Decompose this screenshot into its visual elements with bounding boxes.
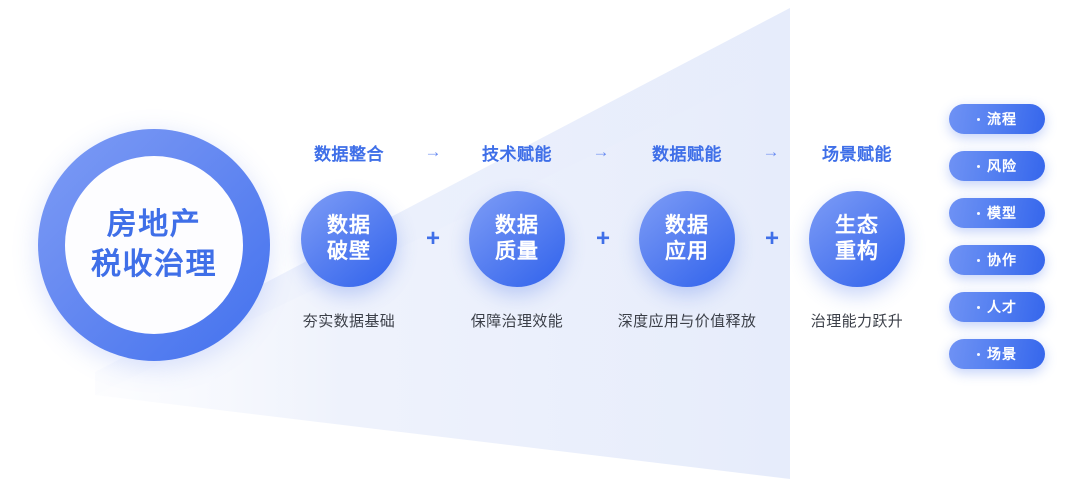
stage-arrow-2: → (581, 141, 621, 163)
stage-arrow-3: → (751, 141, 791, 163)
process-node-2-line1: 数据 (495, 213, 539, 239)
tag-pill-6-label: 场景 (987, 344, 1017, 364)
hub-circle: 房地产 税收治理 (38, 129, 270, 361)
diagram-canvas: 房地产 税收治理 数据整合 → 技术赋能 → 数据赋能 → 场景赋能 数据 破壁… (0, 0, 1080, 487)
process-node-1-line1: 数据 (327, 213, 371, 239)
process-node-4[interactable]: 生态 重构 (809, 191, 905, 287)
bullet-dot-icon (977, 165, 980, 168)
process-node-3[interactable]: 数据 应用 (639, 191, 735, 287)
tag-pill-3-label: 模型 (987, 203, 1017, 223)
hub-title-line1: 房地产 (107, 207, 202, 244)
tag-pill-4-label: 协作 (987, 250, 1017, 270)
stage-label-4: 场景赋能 (797, 140, 917, 165)
bullet-dot-icon (977, 212, 980, 215)
hub-title-line2: 税收治理 (91, 247, 217, 284)
tag-pill-2[interactable]: 风险 (949, 151, 1045, 181)
tag-pill-5-label: 人才 (987, 297, 1017, 317)
bullet-dot-icon (977, 353, 980, 356)
process-node-1[interactable]: 数据 破壁 (301, 191, 397, 287)
hub-inner: 房地产 税收治理 (65, 156, 243, 334)
bullet-dot-icon (977, 118, 980, 121)
tag-pill-1[interactable]: 流程 (949, 104, 1045, 134)
stage-arrow-1: → (413, 141, 453, 163)
tag-pill-6[interactable]: 场景 (949, 339, 1045, 369)
process-node-4-line2: 重构 (835, 239, 879, 265)
stage-label-2: 技术赋能 (457, 140, 577, 165)
plus-separator-1: + (419, 225, 447, 253)
tag-pill-5[interactable]: 人才 (949, 292, 1045, 322)
process-node-2[interactable]: 数据 质量 (469, 191, 565, 287)
process-node-3-line1: 数据 (665, 213, 709, 239)
bullet-dot-icon (977, 306, 980, 309)
plus-separator-3: + (758, 225, 786, 253)
process-node-1-line2: 破壁 (327, 239, 371, 265)
bullet-dot-icon (977, 259, 980, 262)
process-caption-4: 治理能力跃升 (747, 310, 967, 331)
tag-pill-1-label: 流程 (987, 109, 1017, 129)
stage-label-row: 数据整合 → 技术赋能 → 数据赋能 → 场景赋能 (280, 140, 920, 168)
stage-label-1: 数据整合 (289, 140, 409, 165)
stage-label-3: 数据赋能 (627, 140, 747, 165)
tag-pill-3[interactable]: 模型 (949, 198, 1045, 228)
plus-separator-2: + (589, 225, 617, 253)
process-node-3-line2: 应用 (665, 239, 709, 265)
tag-pill-2-label: 风险 (987, 156, 1017, 176)
process-node-2-line2: 质量 (495, 239, 539, 265)
process-node-4-line1: 生态 (835, 213, 879, 239)
tag-pill-4[interactable]: 协作 (949, 245, 1045, 275)
